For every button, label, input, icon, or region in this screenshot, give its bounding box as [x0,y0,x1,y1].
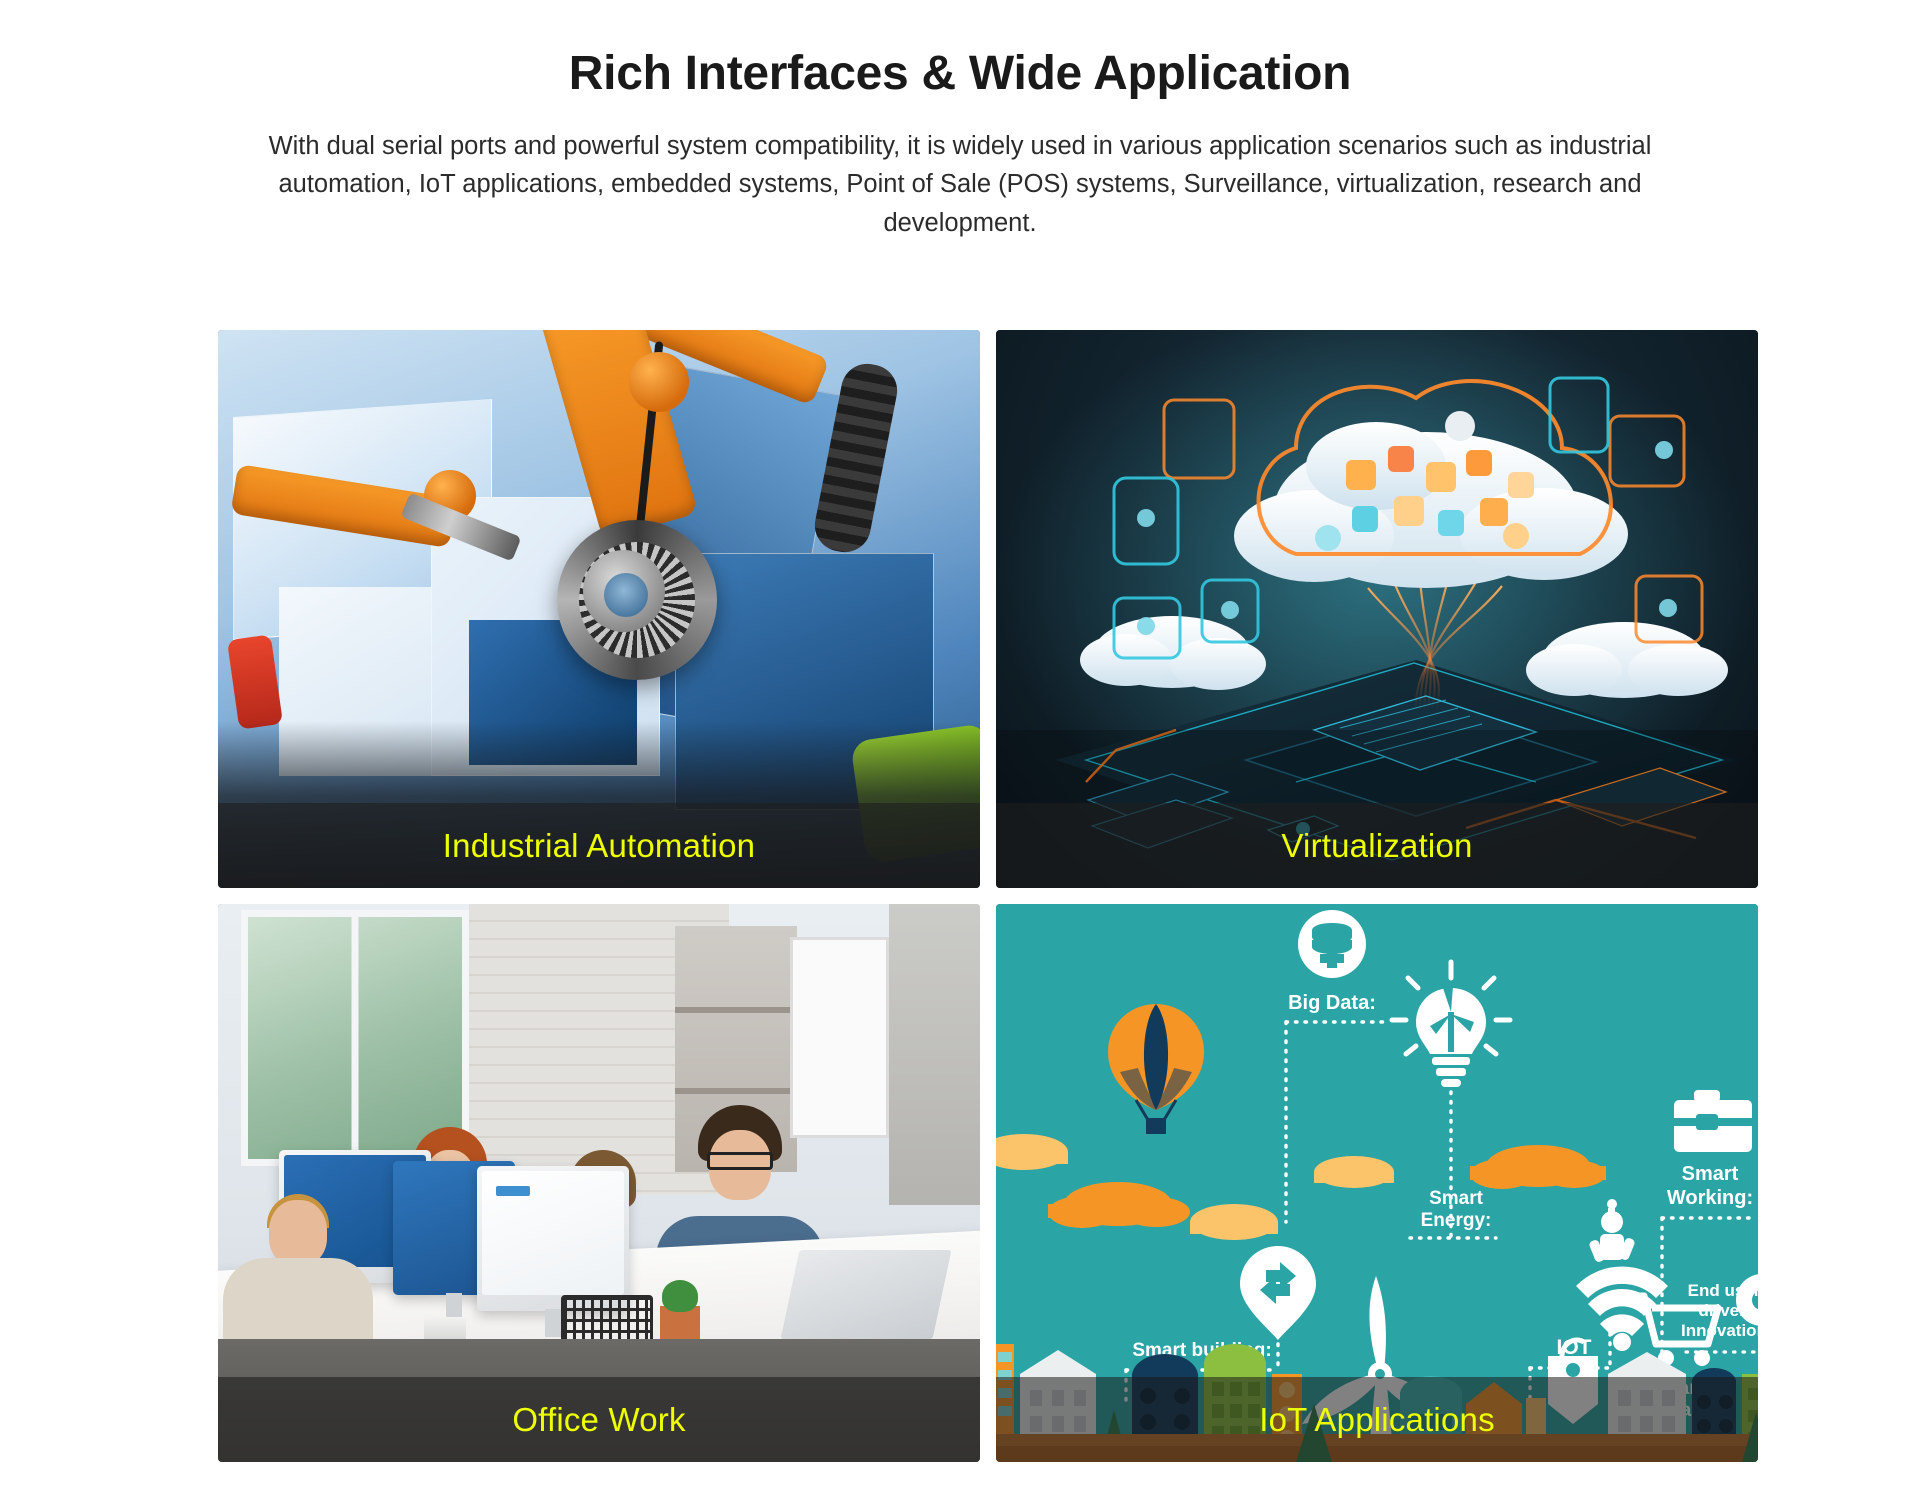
svg-text:Innovation: Innovation [1681,1321,1758,1340]
svg-text:Smart: Smart [1429,1188,1484,1209]
tile-office-work[interactable]: Office Work [218,904,980,1462]
page-subtitle: With dual serial ports and powerful syst… [205,127,1715,242]
header: Rich Interfaces & Wide Application With … [0,0,1920,242]
application-tile-grid: Industrial Automation [218,330,1748,1460]
tile-caption-virtualization: Virtualization [1281,827,1472,865]
page-title: Rich Interfaces & Wide Application [0,46,1920,101]
tile-industrial-automation[interactable]: Industrial Automation [218,330,980,888]
tile-virtualization[interactable]: Virtualization [996,330,1758,888]
svg-text:End user: End user [1688,1281,1758,1300]
tile-caption-bar: IoT Applications [996,1377,1758,1462]
svg-text:Energy:: Energy: [1421,1210,1492,1231]
tile-caption-office-work: Office Work [512,1401,685,1439]
tile-caption-bar: Industrial Automation [218,803,980,888]
svg-text:Big Data:: Big Data: [1288,992,1376,1014]
application-showcase-page: Rich Interfaces & Wide Application With … [0,0,1920,1500]
tile-iot-applications[interactable]: Big Data: [996,904,1758,1462]
tile-caption-industrial-automation: Industrial Automation [443,827,755,865]
svg-text:Smart: Smart [1682,1163,1739,1185]
svg-text:Working:: Working: [1667,1187,1753,1209]
tile-caption-iot-applications: IoT Applications [1259,1401,1495,1439]
tile-caption-bar: Virtualization [996,803,1758,888]
tile-caption-bar: Office Work [218,1377,980,1462]
svg-text:driven: driven [1698,1301,1749,1320]
